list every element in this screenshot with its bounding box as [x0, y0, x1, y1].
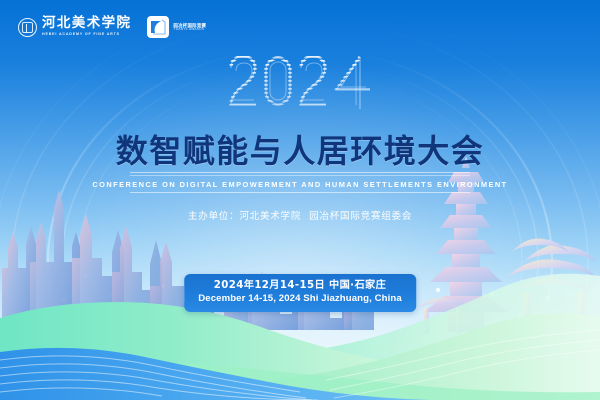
page-title: 数智赋能与人居环境大会 — [0, 126, 600, 172]
divider-top — [130, 172, 470, 173]
divider-top-2 — [130, 175, 470, 176]
divider-bottom — [130, 192, 470, 193]
date-line-en: December 14-15, 2024 Shi Jiazhuang, Chin… — [198, 293, 402, 306]
pavilion-silhouette — [496, 239, 600, 340]
organizer-line: 主办单位：河北美术学院园冶杯国际竞赛组委会 — [0, 208, 600, 222]
competition-logo[interactable]: 园冶杯国际竞赛 YUANYE AWARDS — [147, 16, 206, 38]
year-2024-graphic — [225, 52, 375, 114]
academy-seal-icon — [18, 18, 37, 37]
academy-name-cn: 河北美术学院 — [42, 17, 131, 31]
date-line-cn: 2024年12月14-15日 中国·石家庄 — [198, 279, 402, 293]
conference-poster: 河北美术学院 HEBEI ACADEMY OF FINE ARTS 园冶杯国际竞… — [0, 0, 600, 400]
competition-name-en: YUANYE AWARDS — [173, 28, 206, 32]
date-badge: 2024年12月14-15日 中国·石家庄 December 14-15, 20… — [184, 274, 416, 312]
hero-year — [0, 52, 600, 119]
organizer-name-1: 河北美术学院 — [239, 211, 301, 222]
yuanye-mark-icon — [147, 16, 169, 38]
logo-bar: 河北美术学院 HEBEI ACADEMY OF FINE ARTS 园冶杯国际竞… — [18, 16, 206, 38]
subtitle-block: CONFERENCE ON DIGITAL EMPOWERMENT AND HU… — [0, 172, 600, 193]
organizer-label: 主办单位： — [188, 211, 239, 222]
page-subtitle: CONFERENCE ON DIGITAL EMPOWERMENT AND HU… — [0, 180, 600, 189]
academy-logo[interactable]: 河北美术学院 HEBEI ACADEMY OF FINE ARTS — [18, 17, 131, 37]
academy-name-en: HEBEI ACADEMY OF FINE ARTS — [42, 33, 131, 37]
organizer-name-2: 园冶杯国际竞赛组委会 — [309, 211, 412, 222]
